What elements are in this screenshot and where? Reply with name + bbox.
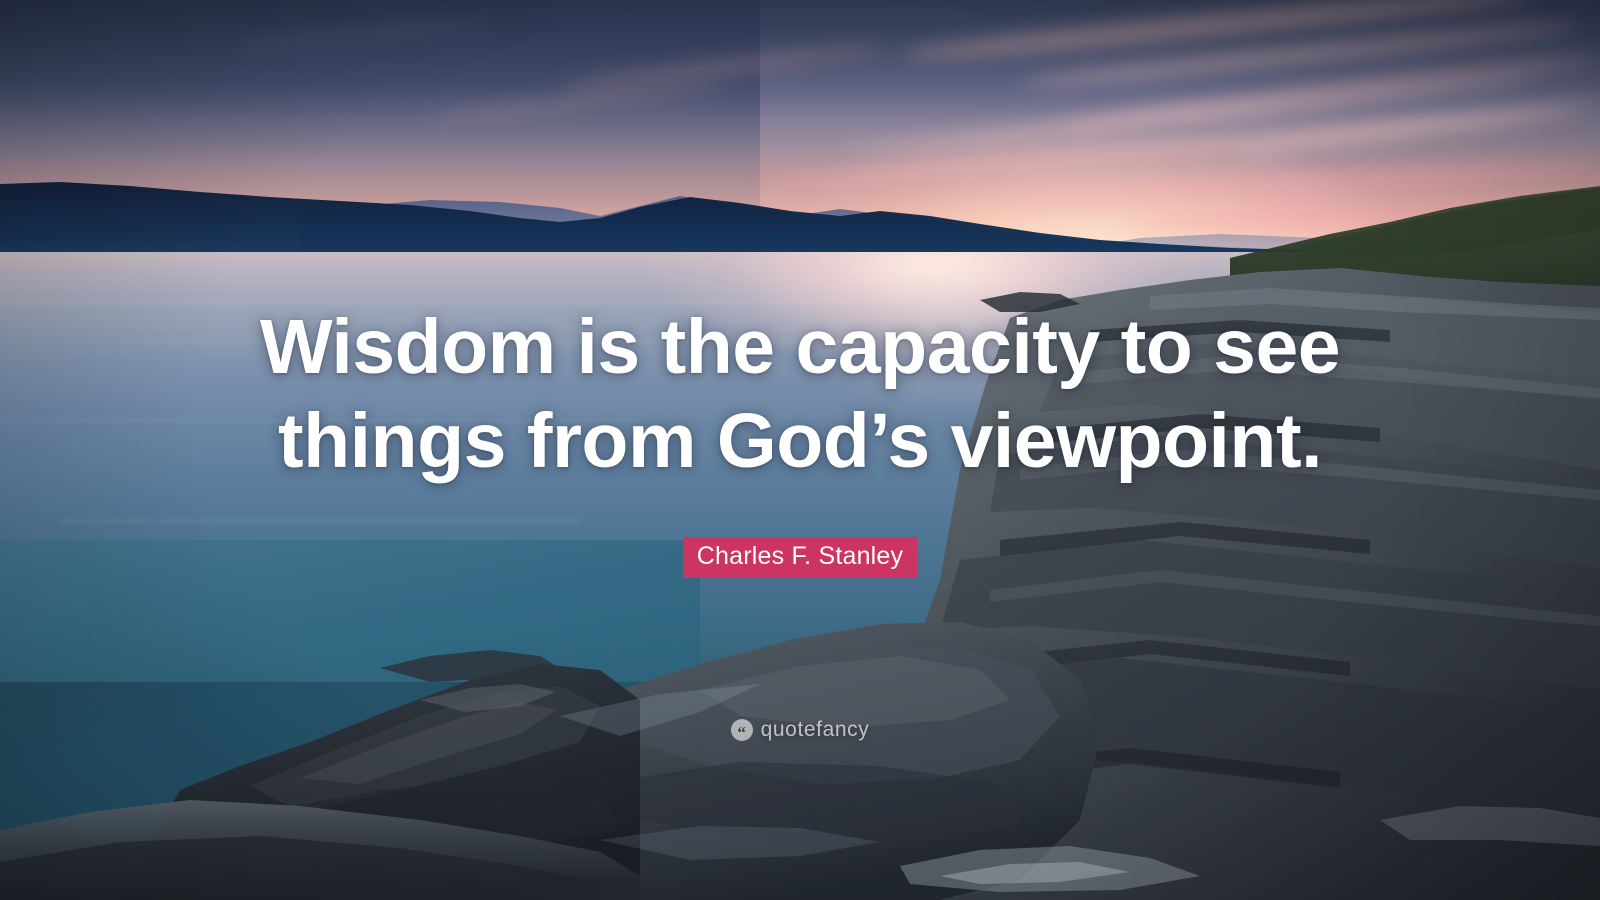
quote-line-2: things from God’s viewpoint. <box>0 394 1600 488</box>
water-band <box>60 520 580 522</box>
quote-line-1: Wisdom is the capacity to see <box>0 300 1600 394</box>
quote-wallpaper: Wisdom is the capacity to see things fro… <box>0 0 1600 900</box>
near-dark-landmass <box>0 0 1600 280</box>
author-name-badge[interactable]: Charles F. Stanley <box>683 537 917 578</box>
author-attribution: Charles F. Stanley <box>0 537 1600 578</box>
quote-text-block: Wisdom is the capacity to see things fro… <box>0 300 1600 488</box>
quotefancy-watermark[interactable]: “ quotefancy <box>0 718 1600 742</box>
watermark-brand-label: quotefancy <box>761 718 870 742</box>
quote-mark-icon: “ <box>731 719 753 741</box>
